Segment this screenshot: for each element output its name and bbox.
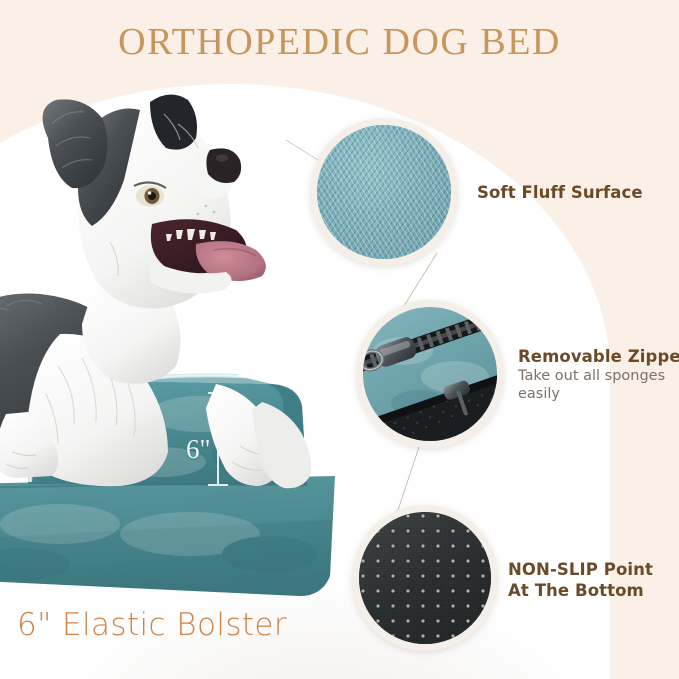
product-infographic: ORTHOPEDIC DOG BED xyxy=(0,0,679,679)
callout-title-non-slip-line2: At The Bottom xyxy=(508,580,653,601)
nonslip-dots-icon xyxy=(359,512,491,644)
callout-circle-soft-fluff xyxy=(310,118,458,266)
callout-label-non-slip: NON-SLIP Point At The Bottom xyxy=(508,559,653,601)
bolster-caption: 6" Elastic Bolster xyxy=(17,607,287,643)
bed-measurement-label: 6" xyxy=(186,434,211,465)
page-title: ORTHOPEDIC DOG BED xyxy=(0,20,679,64)
dog-ear-left xyxy=(43,99,108,188)
callout-title-non-slip-line1: NON-SLIP Point xyxy=(508,559,653,580)
callout-title-soft-fluff: Soft Fluff Surface xyxy=(477,182,643,203)
callout-subtitle-line2: easily xyxy=(518,385,679,403)
callout-subtitle-line1: Take out all sponges xyxy=(518,367,679,385)
zipper-icon xyxy=(363,307,497,441)
fluff-texture-icon xyxy=(317,125,451,259)
callout-title-removable-zipper: Removable Zipper xyxy=(518,346,679,367)
callout-label-soft-fluff: Soft Fluff Surface xyxy=(477,182,643,203)
callout-circle-removable-zipper xyxy=(356,300,504,448)
callout-label-removable-zipper: Removable Zipper Take out all sponges ea… xyxy=(518,346,679,404)
callout-circle-non-slip xyxy=(352,505,498,651)
